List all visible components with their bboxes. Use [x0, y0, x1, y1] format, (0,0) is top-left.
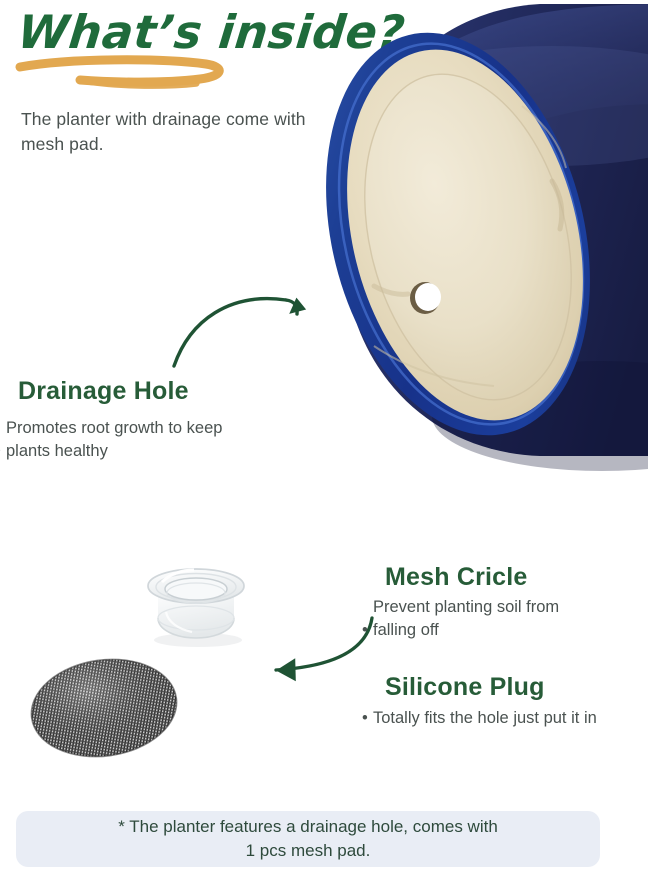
silicone-plug-image: [132, 556, 260, 650]
parts-arrow-icon: [252, 610, 380, 690]
bullet-icon: •: [362, 619, 373, 642]
feature-heading-drainage-hole: Drainage Hole: [18, 376, 189, 406]
feature-heading-silicone-plug: Silicone Plug: [385, 672, 545, 702]
feature-body-drainage-hole: •Promotes root growth to keep plants hea…: [6, 417, 256, 462]
planter-image: [222, 0, 648, 506]
drainage-arrow-icon: [168, 268, 338, 383]
feature-body-text: Totally fits the hole just put it in: [373, 707, 597, 730]
footer-note-line2: 1 pcs mesh pad.: [246, 841, 371, 860]
feature-body-mesh-circle: •Prevent planting soil from falling off: [373, 596, 603, 641]
footer-note-text: * The planter features a drainage hole, …: [100, 815, 516, 863]
feature-body-text: Promotes root growth to keep plants heal…: [6, 417, 256, 462]
bullet-icon: •: [362, 707, 373, 730]
feature-heading-mesh-circle: Mesh Cricle: [385, 562, 528, 592]
feature-body-silicone-plug: •Totally fits the hole just put it in: [373, 707, 623, 730]
footer-note-banner: * The planter features a drainage hole, …: [16, 811, 600, 867]
mesh-circle-image: [26, 654, 182, 760]
footer-note-line1: * The planter features a drainage hole, …: [118, 817, 498, 836]
product-infographic: What’s inside? The planter with drainage…: [0, 0, 648, 879]
title-underline-swoosh: [10, 54, 240, 92]
feature-body-text: Prevent planting soil from falling off: [373, 596, 603, 641]
